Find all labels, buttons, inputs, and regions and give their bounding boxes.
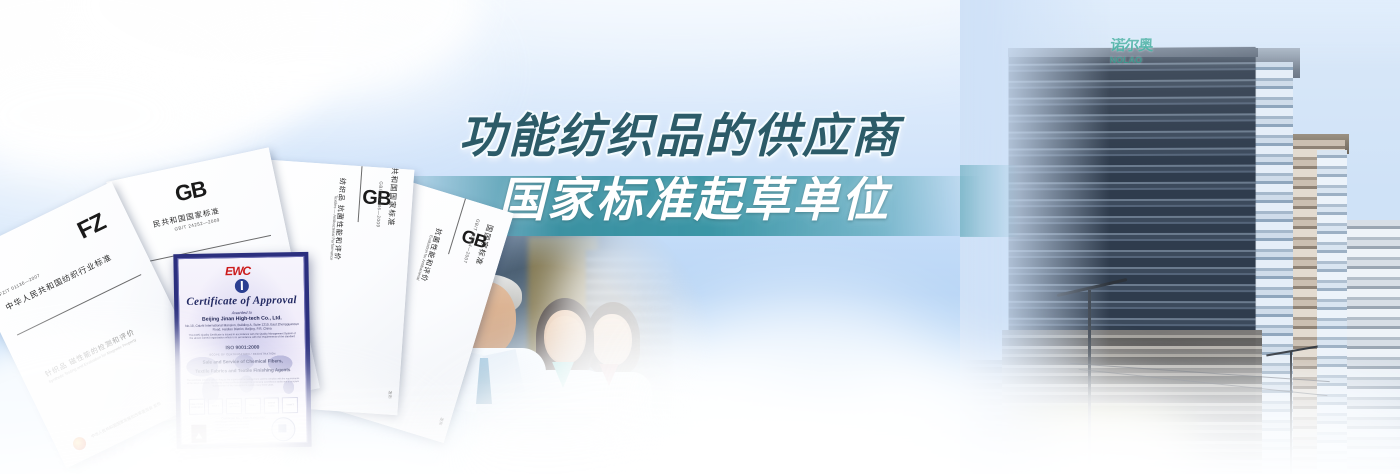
- certificate-body-text: This EWC Quality Certificate is issued i…: [187, 332, 298, 341]
- certificate-title: Certificate of Approval: [179, 294, 304, 308]
- certificate-grid-cell: Date of Initial Certification: [189, 399, 205, 415]
- certificate-grid-cell: Date of Expiry: [264, 397, 280, 413]
- certificate-grid-cell: Issue 2: [245, 398, 261, 414]
- cloud-top-left-medium: [60, 0, 480, 100]
- certificate-company-address: No.18, Caizhi International Mansion, Bui…: [183, 322, 302, 333]
- anchor-icon: [234, 279, 248, 293]
- ewc-logo: EWC: [225, 264, 250, 278]
- office-building-photo: 诺尔奥 NOLAO: [960, 0, 1400, 474]
- hero-banner: 诺尔奥 NOLAO 功能纺织品的供应商 国家标准起草单位: [0, 0, 1400, 474]
- certificate-grid-cell: Issue 3: [282, 397, 298, 413]
- certificate-inner-panel: EWC Certificate of Approval Awarded to B…: [177, 256, 307, 445]
- certificate-grid-cell: Date of Re-certification: [226, 398, 242, 414]
- standards-documents-fan: GB 国国家标准 GB/T 20944—2007 抗菌性能和评价 Evaluat…: [0, 150, 480, 474]
- doc-gb2-foot: 发布: [386, 391, 393, 399]
- certificate-accreditation-lines: Accreditation Member of the Group Headqu…: [215, 421, 261, 434]
- certificate-date-grid: Date of Initial Certification Issue 1 Da…: [189, 397, 298, 415]
- building-fade-left: [960, 0, 1110, 474]
- certificate-grid-cell: Issue 1: [208, 398, 224, 414]
- certificate-of-approval: EWC Certificate of Approval Awarded to B…: [173, 252, 311, 449]
